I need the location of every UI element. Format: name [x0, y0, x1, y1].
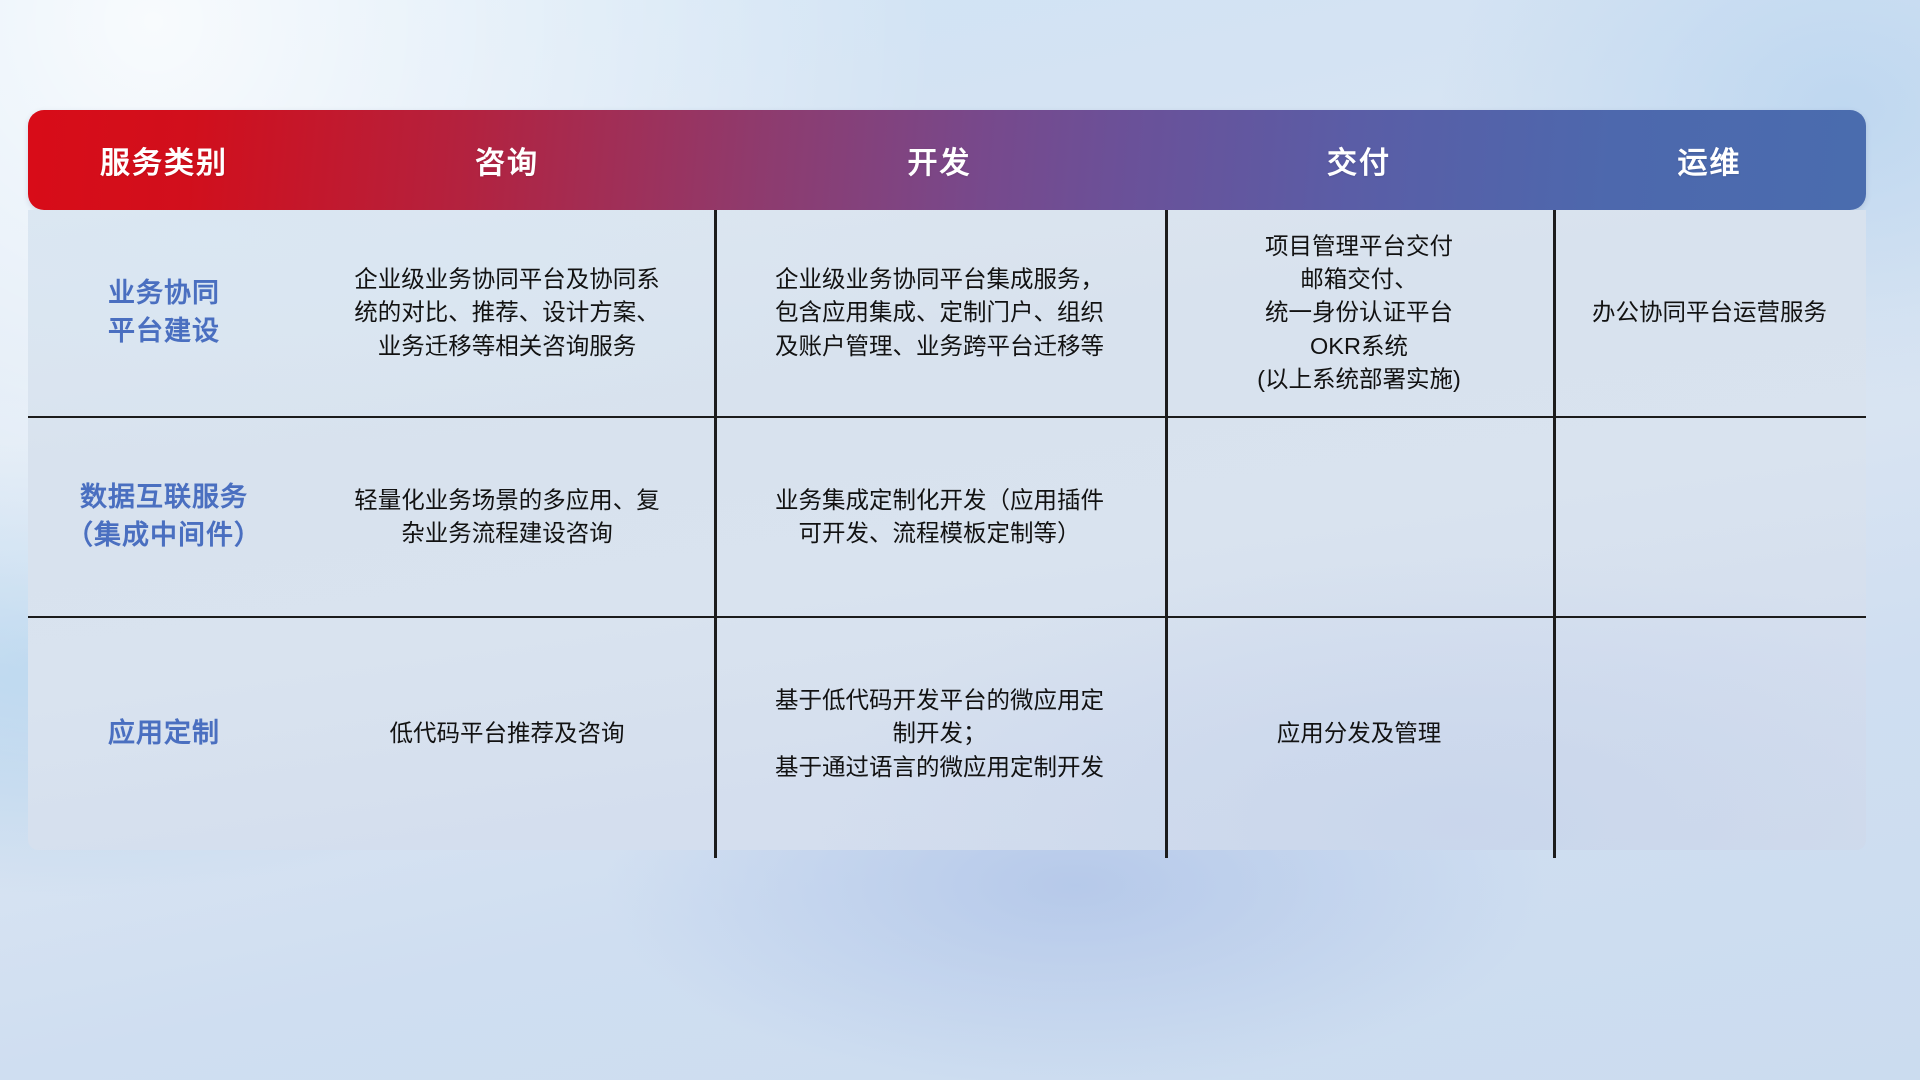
row-category-label: 数据互联服务 （集成中间件） [66, 479, 262, 555]
cell-text: 应用分发及管理 [1277, 717, 1442, 750]
table-row: 应用定制 低代码平台推荐及咨询 基于低代码开发平台的微应用定 制开发； 基于通过… [28, 618, 1866, 850]
cell-text: 企业级业务协同平台及协同系 统的对比、推荐、设计方案、 业务迁移等相关咨询服务 [354, 263, 660, 363]
header-label: 咨询 [475, 147, 539, 180]
cell-development: 基于低代码开发平台的微应用定 制开发； 基于通过语言的微应用定制开发 [714, 618, 1165, 850]
table-header-row: 服务类别 咨询 开发 交付 运维 [28, 110, 1866, 210]
header-label: 服务类别 [100, 147, 228, 180]
cell-operations [1553, 418, 1866, 616]
cell-operations: 办公协同平台运营服务 [1553, 210, 1866, 416]
row-category-cell: 应用定制 [28, 618, 300, 850]
column-divider-development-delivery [1165, 210, 1168, 858]
cell-development: 业务集成定制化开发（应用插件 可开发、流程模板定制等） [714, 418, 1165, 616]
cell-operations [1553, 618, 1866, 850]
cell-text: 轻量化业务场景的多应用、复 杂业务流程建设咨询 [354, 484, 660, 551]
cell-text: 基于低代码开发平台的微应用定 制开发； 基于通过语言的微应用定制开发 [775, 684, 1104, 784]
cell-development: 企业级业务协同平台集成服务， 包含应用集成、定制门户、组织 及账户管理、业务跨平… [714, 210, 1165, 416]
row-category-cell: 数据互联服务 （集成中间件） [28, 418, 300, 616]
cell-delivery: 项目管理平台交付 邮箱交付、 统一身份认证平台 OKR系统 (以上系统部署实施) [1165, 210, 1553, 416]
column-divider-consulting-development [714, 210, 717, 858]
cell-consulting: 企业级业务协同平台及协同系 统的对比、推荐、设计方案、 业务迁移等相关咨询服务 [300, 210, 714, 416]
header-cell-service-category: 服务类别 [28, 138, 300, 182]
header-cell-consulting: 咨询 [300, 138, 714, 182]
header-label: 开发 [908, 147, 972, 180]
column-divider-delivery-operations [1553, 210, 1556, 858]
service-category-table: 服务类别 咨询 开发 交付 运维 业务协同 平台建设 企业级业务协同平台及协同系… [28, 110, 1866, 958]
cell-text: 项目管理平台交付 邮箱交付、 统一身份认证平台 OKR系统 (以上系统部署实施) [1257, 230, 1461, 397]
table-row: 业务协同 平台建设 企业级业务协同平台及协同系 统的对比、推荐、设计方案、 业务… [28, 210, 1866, 418]
header-label: 运维 [1678, 147, 1742, 180]
header-cell-operations: 运维 [1553, 138, 1866, 182]
cell-delivery: 应用分发及管理 [1165, 618, 1553, 850]
cell-delivery [1165, 418, 1553, 616]
cell-text: 业务集成定制化开发（应用插件 可开发、流程模板定制等） [775, 484, 1104, 551]
cell-text: 办公协同平台运营服务 [1592, 296, 1827, 329]
cell-consulting: 轻量化业务场景的多应用、复 杂业务流程建设咨询 [300, 418, 714, 616]
header-cell-delivery: 交付 [1165, 138, 1553, 182]
cell-text: 企业级业务协同平台集成服务， 包含应用集成、定制门户、组织 及账户管理、业务跨平… [775, 263, 1104, 363]
row-category-label: 应用定制 [108, 715, 220, 753]
table-body: 业务协同 平台建设 企业级业务协同平台及协同系 统的对比、推荐、设计方案、 业务… [28, 210, 1866, 850]
row-category-label: 业务协同 平台建设 [108, 275, 220, 351]
header-cell-development: 开发 [714, 138, 1165, 182]
cell-text: 低代码平台推荐及咨询 [390, 717, 625, 750]
cell-consulting: 低代码平台推荐及咨询 [300, 618, 714, 850]
table-row: 数据互联服务 （集成中间件） 轻量化业务场景的多应用、复 杂业务流程建设咨询 业… [28, 418, 1866, 618]
row-category-cell: 业务协同 平台建设 [28, 210, 300, 416]
header-label: 交付 [1327, 147, 1391, 180]
